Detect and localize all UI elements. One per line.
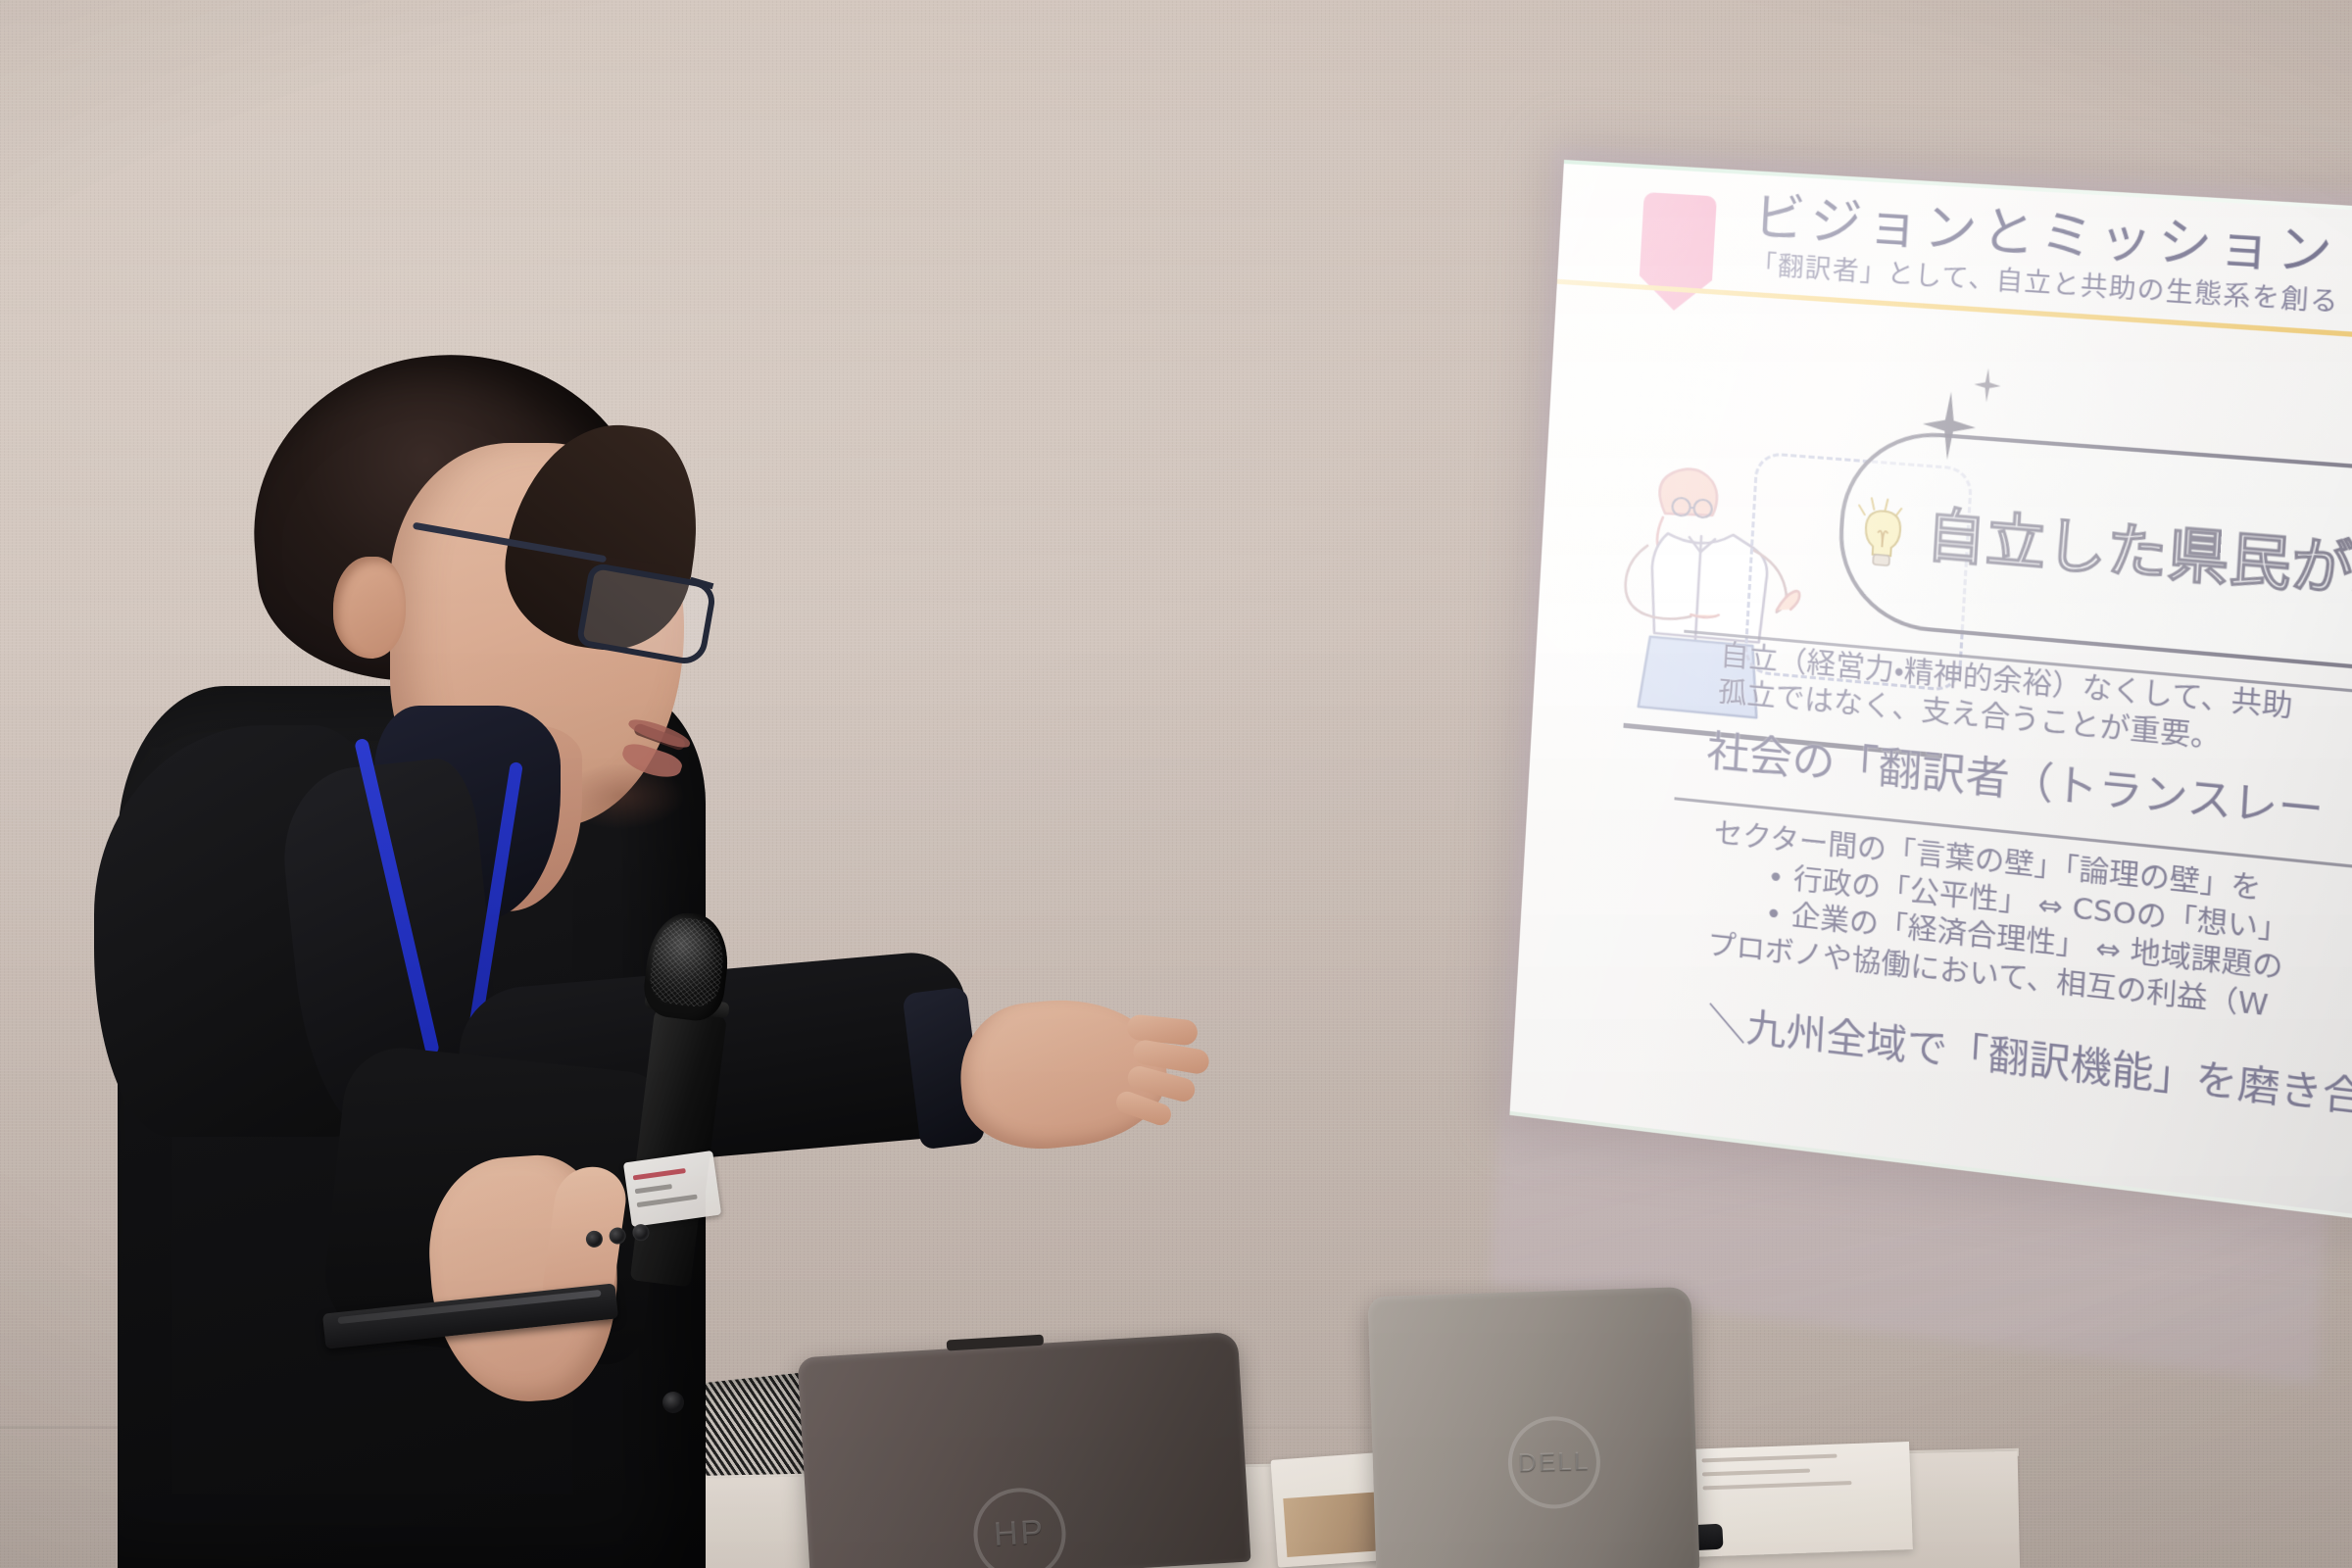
presenter [0,176,1274,1568]
slide-surface: ビジョンとミッション（展望） 「翻訳者」として、自立と共助の生態系を創る [1509,160,2352,1227]
name-badge [623,1151,721,1227]
laptop-dell[interactable]: DELL [1368,1287,1700,1568]
dell-logo-icon: DELL [1506,1415,1601,1510]
presenter-ear [333,557,406,659]
microphone-grille [647,914,727,1009]
woman-pointing-illustration [1592,458,1817,771]
sparkle-small-icon [1973,367,2001,404]
projection-screen: ビジョンとミッション（展望） 「翻訳者」として、自立と共助の生態系を創る [1509,160,2352,1227]
slide-header: ビジョンとミッション（展望） 「翻訳者」として、自立と共助の生態系を創る [1750,191,2352,327]
jacket-side-button [662,1392,684,1413]
laptop-lid: DELL [1368,1287,1700,1568]
presentation-photo-scene: ビジョンとミッション（展望） 「翻訳者」として、自立と共助の生態系を創る [0,0,2352,1568]
bullet-marker: • [1766,858,1794,895]
bookmark-icon [1638,192,1717,313]
bullet-marker: • [1764,896,1792,932]
lightbulb-icon [1849,495,1916,578]
